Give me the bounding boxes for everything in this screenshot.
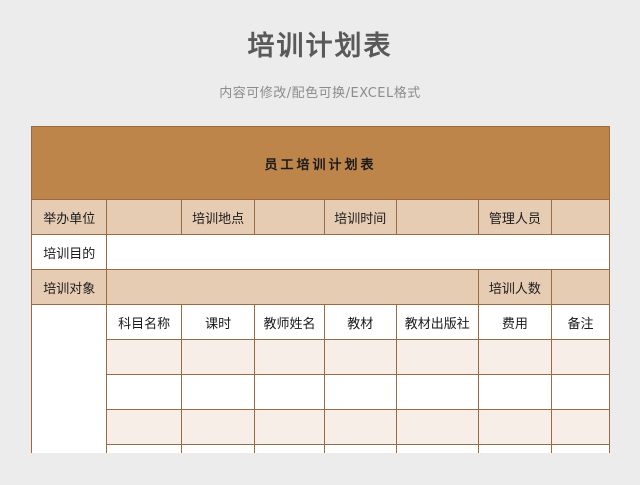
cell-publisher[interactable]	[396, 445, 478, 454]
label-time: 培训时间	[324, 200, 396, 235]
value-location[interactable]	[255, 200, 324, 235]
info-row-audience: 培训对象 培训人数	[32, 270, 610, 305]
label-audience: 培训对象	[32, 270, 107, 305]
col-header-fee: 费用	[478, 305, 551, 340]
col-header-remark: 备注	[552, 305, 610, 340]
table-row	[32, 445, 610, 454]
cell-material[interactable]	[324, 410, 396, 445]
table-row	[32, 410, 610, 445]
value-headcount[interactable]	[552, 270, 610, 305]
info-row-purpose: 培训目的	[32, 235, 610, 270]
col-header-hours: 课时	[181, 305, 254, 340]
cell-teacher[interactable]	[255, 340, 324, 375]
cell-hours[interactable]	[181, 375, 254, 410]
cell-remark[interactable]	[552, 445, 610, 454]
table-row	[32, 340, 610, 375]
cell-teacher[interactable]	[255, 445, 324, 454]
col-header-subject: 科目名称	[107, 305, 181, 340]
info-row-organizer: 举办单位 培训地点 培训时间 管理人员	[32, 200, 610, 235]
cell-fee[interactable]	[478, 375, 551, 410]
label-organizer: 举办单位	[32, 200, 107, 235]
cell-subject[interactable]	[107, 340, 181, 375]
cell-remark[interactable]	[552, 340, 610, 375]
col-header-teacher: 教师姓名	[255, 305, 324, 340]
label-purpose: 培训目的	[32, 235, 107, 270]
label-headcount: 培训人数	[478, 270, 551, 305]
page-subtitle: 内容可修改/配色可换/EXCEL格式	[0, 85, 640, 103]
course-table-header-row: 科目名称 课时 教师姓名 教材 教材出版社 费用 备注	[32, 305, 610, 340]
cell-subject[interactable]	[107, 375, 181, 410]
cell-fee[interactable]	[478, 445, 551, 454]
label-location: 培训地点	[181, 200, 254, 235]
cell-hours[interactable]	[181, 340, 254, 375]
cell-fee[interactable]	[478, 410, 551, 445]
training-plan-table: 员工培训计划表 举办单位 培训地点 培训时间 管理人员 培训目的 培训对象	[31, 126, 610, 453]
banner-row: 员工培训计划表	[32, 127, 610, 200]
cell-hours[interactable]	[181, 445, 254, 454]
cell-remark[interactable]	[552, 410, 610, 445]
cell-teacher[interactable]	[255, 410, 324, 445]
cell-publisher[interactable]	[396, 340, 478, 375]
cell-teacher[interactable]	[255, 375, 324, 410]
label-manager: 管理人员	[478, 200, 551, 235]
cell-fee[interactable]	[478, 340, 551, 375]
sheet-banner-title: 员工培训计划表	[32, 127, 610, 200]
value-time[interactable]	[396, 200, 478, 235]
col-header-material: 教材	[324, 305, 396, 340]
cell-material[interactable]	[324, 375, 396, 410]
course-group-cell[interactable]	[32, 305, 107, 454]
value-audience[interactable]	[107, 270, 478, 305]
cell-subject[interactable]	[107, 445, 181, 454]
value-purpose[interactable]	[107, 235, 610, 270]
cell-remark[interactable]	[552, 375, 610, 410]
cell-hours[interactable]	[181, 410, 254, 445]
cell-publisher[interactable]	[396, 375, 478, 410]
training-plan-sheet: 员工培训计划表 举办单位 培训地点 培训时间 管理人员 培训目的 培训对象	[31, 126, 610, 453]
cell-material[interactable]	[324, 445, 396, 454]
cell-subject[interactable]	[107, 410, 181, 445]
col-header-publisher: 教材出版社	[396, 305, 478, 340]
table-row	[32, 375, 610, 410]
value-manager[interactable]	[552, 200, 610, 235]
cell-publisher[interactable]	[396, 410, 478, 445]
page-title: 培训计划表	[0, 30, 640, 64]
value-organizer[interactable]	[107, 200, 181, 235]
cell-material[interactable]	[324, 340, 396, 375]
